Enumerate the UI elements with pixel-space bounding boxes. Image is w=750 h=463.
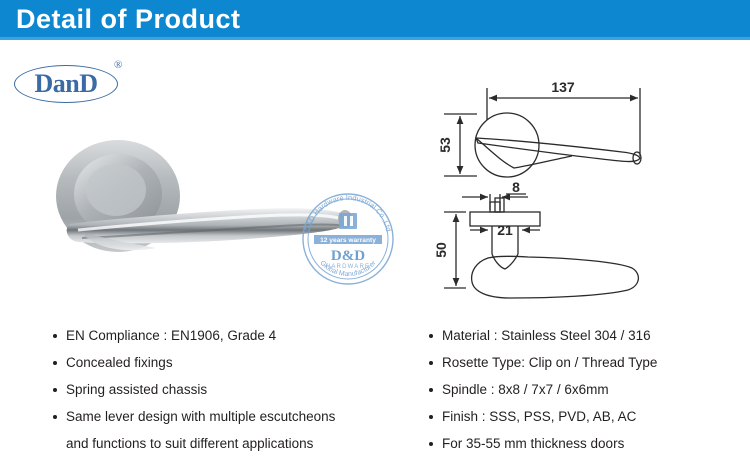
dimension-label-21: 21 xyxy=(497,222,513,238)
seal-subbrand-text: HARDWARE xyxy=(326,264,370,270)
seal-brand-text: D&D xyxy=(331,248,365,264)
bullet-icon xyxy=(429,334,433,338)
spec-item-lever-design-continuation: and functions to suit different applicat… xyxy=(52,436,412,452)
dimension-label-50: 50 xyxy=(433,242,449,258)
arrow-down-50 xyxy=(453,278,460,286)
spec-text: Finish : SSS, PSS, PVD, AB, AC xyxy=(442,409,636,424)
logo-text: DanD xyxy=(14,65,118,103)
spec-text: Spindle : 8x8 / 7x7 / 6x6mm xyxy=(442,382,609,397)
arrow-21-right xyxy=(522,227,530,234)
registered-trademark-icon: ® xyxy=(114,59,122,71)
spec-item-door-thickness: For 35-55 mm thickness doors xyxy=(428,436,748,452)
technical-drawings: 137 53 8 xyxy=(432,76,742,306)
bullet-icon xyxy=(53,388,57,392)
arrow-21-left xyxy=(480,227,488,234)
brand-logo: DanD ® xyxy=(14,57,134,105)
bullet-icon xyxy=(429,442,433,446)
arrow-left-137 xyxy=(489,95,497,102)
spec-item-spring-chassis: Spring assisted chassis xyxy=(52,382,412,398)
header-banner: Detail of Product xyxy=(0,0,750,40)
spec-item-spindle: Spindle : 8x8 / 7x7 / 6x6mm xyxy=(428,382,748,398)
bullet-icon xyxy=(429,415,433,419)
spec-text: Material : Stainless Steel 304 / 316 xyxy=(442,328,651,343)
bullet-icon xyxy=(53,415,57,419)
seal-warranty-text: 12 years warranty xyxy=(320,237,376,244)
spec-text: Same lever design with multiple escutche… xyxy=(66,409,335,424)
bullet-icon xyxy=(429,361,433,365)
spec-text: Concealed fixings xyxy=(66,355,173,370)
bullet-icon xyxy=(53,334,57,338)
spec-list-right: Material : Stainless Steel 304 / 316 Ros… xyxy=(428,328,748,463)
spec-list-left: EN Compliance : EN1906, Grade 4 Conceale… xyxy=(52,328,412,452)
watermark-seal: D&D Hardware Industrial Co.,Ltd Global M… xyxy=(297,188,399,290)
rosette-hub xyxy=(86,164,146,216)
spec-item-lever-design: Same lever design with multiple escutche… xyxy=(52,409,412,425)
spec-item-en-compliance: EN Compliance : EN1906, Grade 4 xyxy=(52,328,412,344)
dimension-label-8: 8 xyxy=(512,179,520,195)
side-view-drawing: 50 21 xyxy=(433,198,638,298)
spec-text: Rosette Type: Clip on / Thread Type xyxy=(442,355,657,370)
dimension-label-137: 137 xyxy=(551,79,575,95)
bullet-icon xyxy=(429,388,433,392)
spec-text: EN Compliance : EN1906, Grade 4 xyxy=(66,328,276,343)
spec-text: Spring assisted chassis xyxy=(66,382,207,397)
arrow-up-50 xyxy=(453,214,460,222)
spec-text: For 35-55 mm thickness doors xyxy=(442,436,624,451)
spec-item-material: Material : Stainless Steel 304 / 316 xyxy=(428,328,748,344)
dimension-label-53: 53 xyxy=(437,137,453,153)
spec-item-finish: Finish : SSS, PSS, PVD, AB, AC xyxy=(428,409,748,425)
arrow-up-53 xyxy=(457,116,464,124)
seal-emblem-icon xyxy=(339,213,357,229)
arrow-8-left xyxy=(480,194,488,201)
plan-lever-outline xyxy=(476,138,640,162)
arrow-right-137 xyxy=(630,95,638,102)
arrow-down-53 xyxy=(457,166,464,174)
spec-item-rosette-type: Rosette Type: Clip on / Thread Type xyxy=(428,355,748,371)
plan-view-drawing: 137 53 8 xyxy=(437,79,641,212)
spec-item-concealed-fixings: Concealed fixings xyxy=(52,355,412,371)
page-title: Detail of Product xyxy=(16,4,241,35)
bullet-icon xyxy=(53,361,57,365)
